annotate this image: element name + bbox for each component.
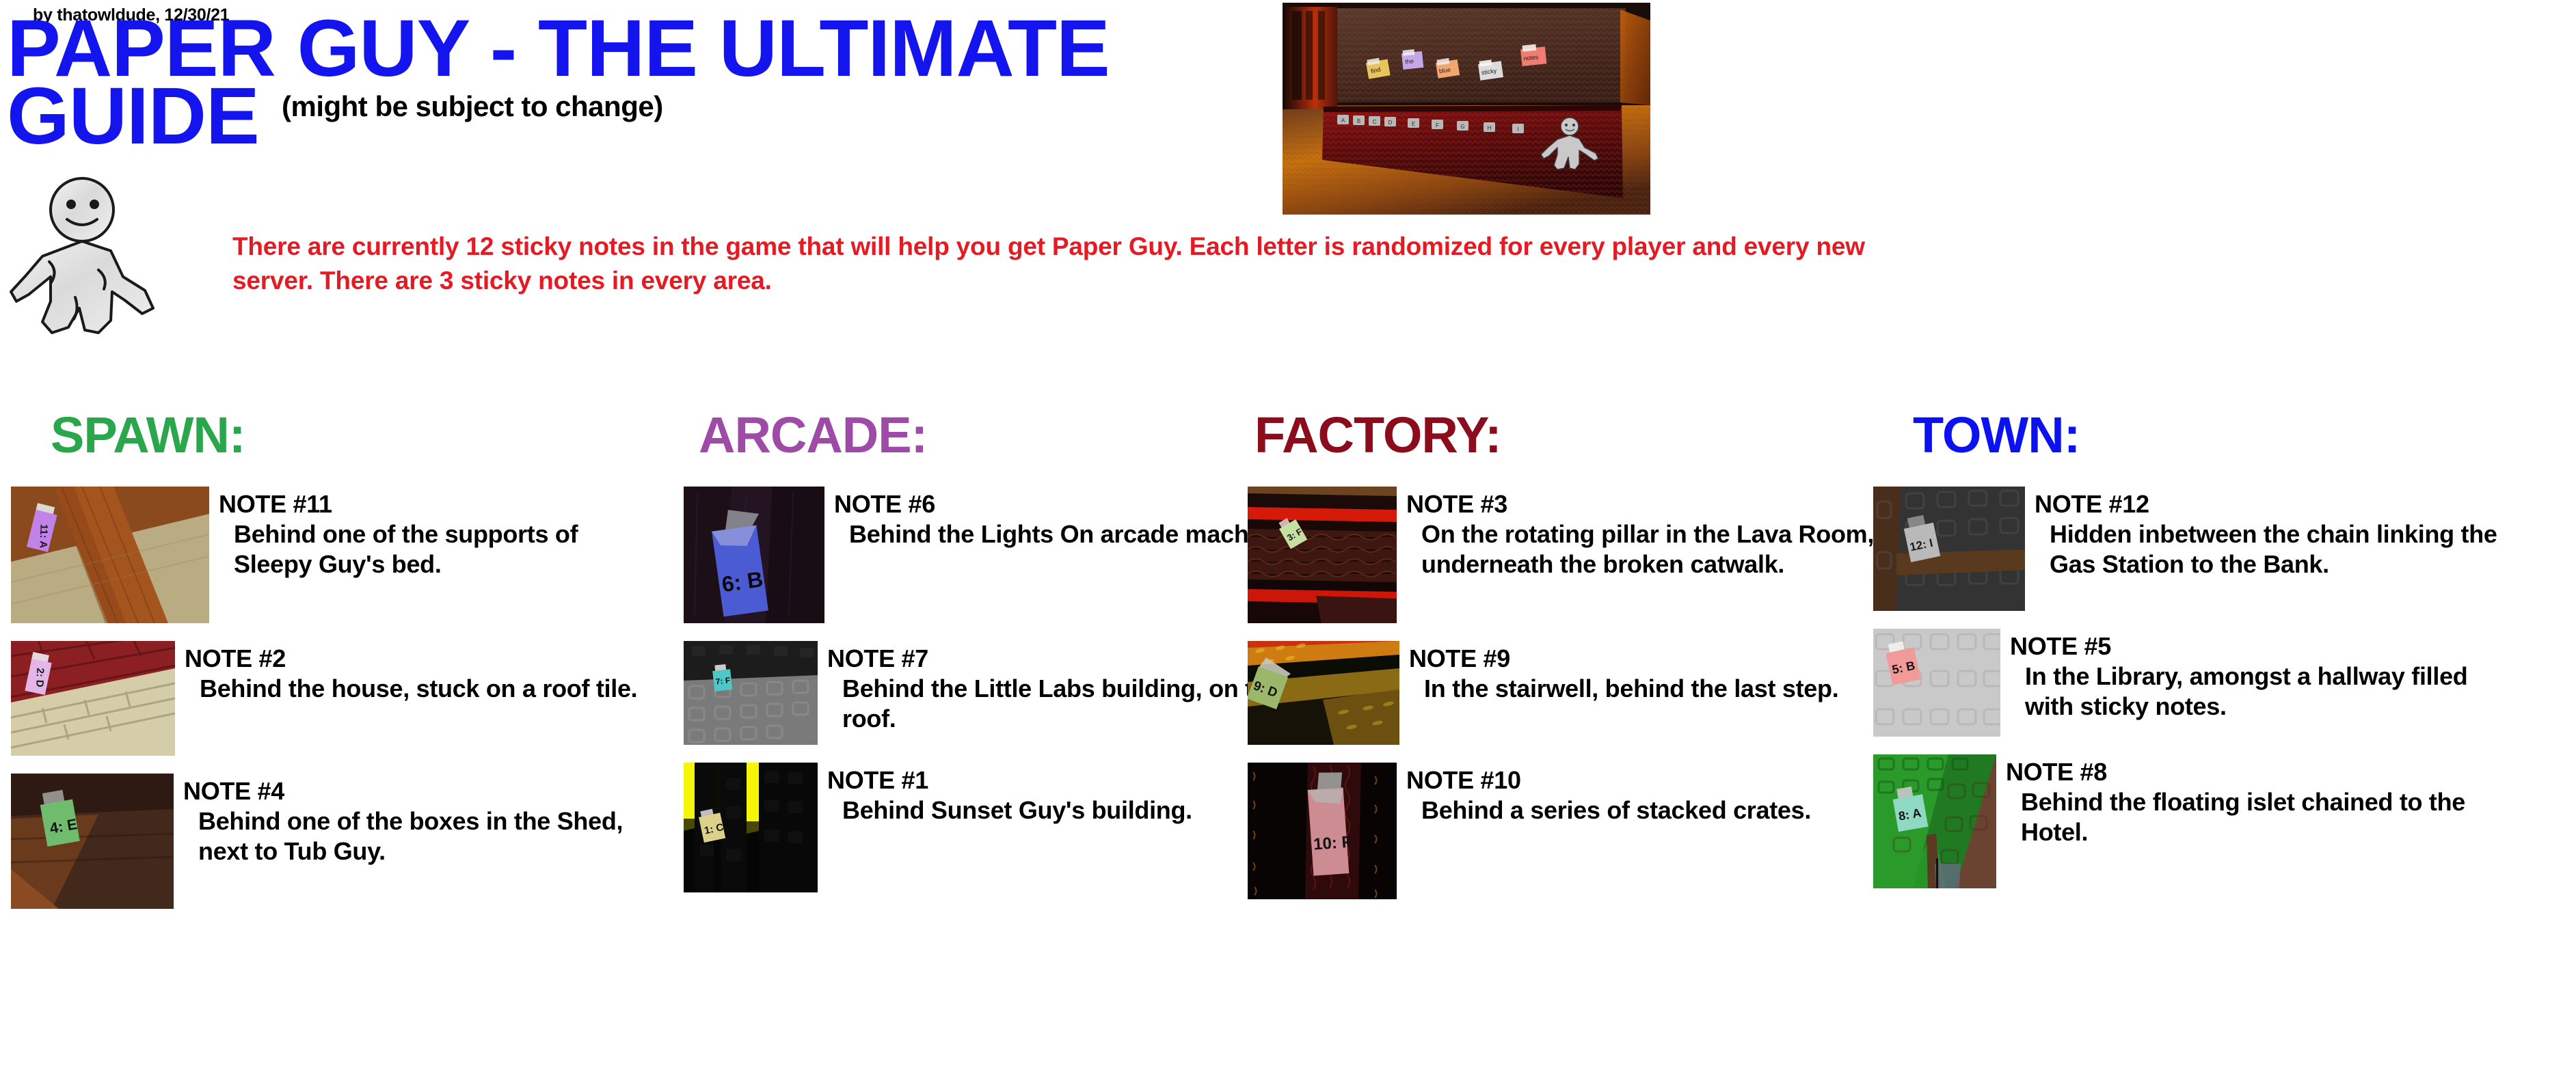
note-description: Behind one of the boxes in the Shed, nex…	[183, 806, 640, 865]
note-label: NOTE #5	[2010, 633, 2502, 660]
svg-text:E: E	[1412, 121, 1415, 127]
svg-text:C: C	[1373, 119, 1377, 125]
note-description: Behind the Little Labs building, on the …	[827, 674, 1313, 733]
note-thumbnail-9[interactable]: 9: D	[1248, 641, 1399, 745]
note-entry[interactable]: 4: E NOTE #4 Behind one of the boxes in …	[11, 774, 640, 909]
note-description: Behind a series of stacked crates.	[1406, 795, 1811, 825]
note-label: NOTE #7	[827, 645, 1313, 672]
svg-text:B: B	[1357, 118, 1360, 124]
note-label: NOTE #12	[2035, 491, 2502, 518]
note-label: NOTE #3	[1406, 491, 1877, 518]
note-label: NOTE #10	[1406, 767, 1811, 794]
note-thumbnail-5[interactable]: 5: B	[1873, 629, 2000, 737]
note-entry[interactable]: 11: A NOTE #11 Behind one of the support…	[11, 487, 640, 623]
note-thumbnail-7[interactable]: 7: F	[684, 641, 818, 745]
note-label: NOTE #4	[183, 778, 640, 805]
note-text: NOTE #12 Hidden inbetween the chain link…	[2025, 487, 2502, 579]
hero-screenshot: find the blue sticky notes	[1283, 3, 1650, 215]
svg-text:H: H	[1488, 125, 1492, 131]
svg-text:2: D: 2: D	[33, 668, 46, 687]
page-title: PAPER GUY - THE ULTIMATE GUIDE	[7, 15, 1210, 150]
note-entry[interactable]: 12: I NOTE #12 Hidden inbetween the chai…	[1873, 487, 2502, 611]
note-label: NOTE #2	[185, 645, 637, 672]
svg-text:10: F: 10: F	[1313, 833, 1352, 854]
title-block: PAPER GUY - THE ULTIMATE GUIDE	[7, 15, 1237, 150]
svg-text:7: F: 7: F	[715, 675, 731, 686]
note-description: In the Library, amongst a hallway filled…	[2010, 661, 2502, 720]
note-text: NOTE #5 In the Library, amongst a hallwa…	[2000, 629, 2502, 721]
note-description: In the stairwell, behind the last step.	[1409, 674, 1838, 703]
note-entry[interactable]: 5: B NOTE #5 In the Library, amongst a h…	[1873, 629, 2502, 737]
note-text: NOTE #10 Behind a series of stacked crat…	[1397, 763, 1811, 825]
note-text: NOTE #7 Behind the Little Labs building,…	[818, 641, 1313, 733]
note-text: NOTE #4 Behind one of the boxes in the S…	[174, 774, 640, 866]
note-text: NOTE #8 Behind the floating islet chaine…	[1996, 754, 2502, 847]
note-label: NOTE #6	[834, 491, 1290, 518]
note-description: On the rotating pillar in the Lava Room,…	[1406, 519, 1877, 578]
svg-text:F: F	[1436, 122, 1439, 128]
page-subtitle: (might be subject to change)	[282, 90, 663, 123]
column-factory: FACTORY:	[1248, 410, 1877, 917]
svg-text:D: D	[1388, 120, 1393, 126]
note-description: Behind the Lights On arcade machine.	[834, 519, 1290, 549]
note-entry[interactable]: 6: B NOTE #6 Behind the Lights On arcade…	[684, 487, 1313, 623]
column-town: TOWN:	[1873, 410, 2502, 906]
svg-text:G: G	[1460, 124, 1464, 130]
note-thumbnail-2[interactable]: 2: D	[11, 641, 175, 756]
note-description: Behind the house, stuck on a roof tile.	[185, 674, 637, 703]
note-description: Behind Sunset Guy's building.	[827, 795, 1192, 825]
column-title-arcade: ARCADE:	[699, 410, 1313, 461]
paper-guy-mascot	[8, 174, 206, 337]
note-entry[interactable]: 2: D NOTE #2 Behind the house, stuck on …	[11, 641, 640, 756]
note-entry[interactable]: 3: F NOTE #3 On the rotating pillar in t…	[1248, 487, 1877, 623]
note-entry[interactable]: 1: C NOTE #1 Behind Sunset Guy's buildin…	[684, 763, 1313, 892]
note-label: NOTE #9	[1409, 645, 1838, 672]
note-text: NOTE #11 Behind one of the supports of S…	[209, 487, 640, 579]
note-thumbnail-8[interactable]: 8: A	[1873, 754, 1996, 888]
note-thumbnail-10[interactable]: 10: F	[1248, 763, 1397, 899]
note-description: Hidden inbetween the chain linking the G…	[2035, 519, 2502, 578]
column-title-town: TOWN:	[1913, 410, 2502, 461]
note-thumbnail-11[interactable]: 11: A	[11, 487, 209, 623]
column-title-spawn: SPAWN:	[51, 410, 640, 461]
note-label: NOTE #11	[219, 491, 640, 518]
svg-text:11: A: 11: A	[37, 524, 49, 549]
note-entry[interactable]: 9: D NOTE #9 In the stairwell, behind th…	[1248, 641, 1877, 745]
svg-text:the: the	[1405, 57, 1414, 65]
note-label: NOTE #8	[2006, 758, 2502, 786]
note-description: Behind the floating islet chained to the…	[2006, 787, 2502, 846]
note-thumbnail-3[interactable]: 3: F	[1248, 487, 1397, 623]
note-thumbnail-1[interactable]: 1: C	[684, 763, 818, 892]
note-description: Behind one of the supports of Sleepy Guy…	[219, 519, 640, 578]
note-text: NOTE #1 Behind Sunset Guy's building.	[818, 763, 1192, 825]
note-thumbnail-6[interactable]: 6: B	[684, 487, 824, 623]
intro-paragraph: There are currently 12 sticky notes in t…	[232, 230, 1887, 299]
svg-text:I: I	[1517, 126, 1518, 133]
note-text: NOTE #9 In the stairwell, behind the las…	[1399, 641, 1838, 704]
note-columns: SPAWN:	[0, 410, 2576, 1066]
note-thumbnail-4[interactable]: 4: E	[11, 774, 174, 909]
note-entry[interactable]: 8: A NOTE #8 Behind the floating islet c…	[1873, 754, 2502, 888]
svg-text:A: A	[1341, 118, 1345, 124]
note-text: NOTE #6 Behind the Lights On arcade mach…	[824, 487, 1290, 549]
note-thumbnail-12[interactable]: 12: I	[1873, 487, 2025, 611]
column-title-factory: FACTORY:	[1255, 410, 1877, 461]
note-label: NOTE #1	[827, 767, 1192, 794]
note-text: NOTE #2 Behind the house, stuck on a roo…	[175, 641, 637, 704]
column-spawn: SPAWN:	[11, 410, 640, 927]
column-arcade: ARCADE: 6: B	[684, 410, 1313, 910]
note-entry[interactable]: 10: F NOTE #10 Behind a series of stacke…	[1248, 763, 1877, 899]
note-text: NOTE #3 On the rotating pillar in the La…	[1397, 487, 1877, 579]
note-entry[interactable]: 7: F NOTE #7 Behind the Little Labs buil…	[684, 641, 1313, 745]
